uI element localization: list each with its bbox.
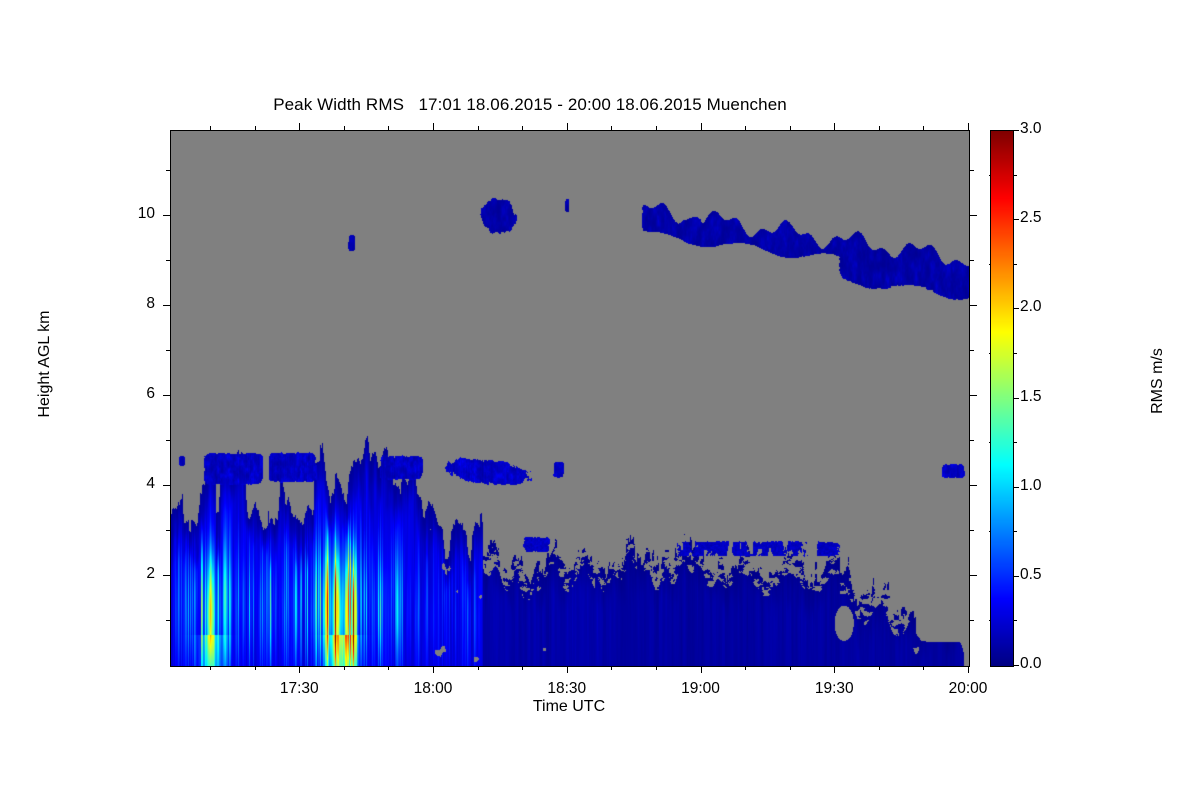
colorbar-minor-tick <box>1014 264 1017 265</box>
page-title: Peak Width RMS 17:01 18.06.2015 - 20:00 … <box>0 95 1060 115</box>
x-axis-minor-tick <box>879 666 880 670</box>
y-axis-tick-label: 10 <box>115 205 155 223</box>
x-axis-minor-tick <box>745 666 746 670</box>
x-axis-minor-tick-top <box>745 126 746 130</box>
colorbar-tick-label: 3.0 <box>1020 120 1068 138</box>
x-axis-minor-tick-top <box>344 126 345 130</box>
y-axis-minor-tick-right <box>970 350 974 351</box>
y-axis-minor-tick <box>166 350 170 351</box>
colorbar-label: RMS m/s <box>1149 281 1167 481</box>
x-axis-minor-tick <box>656 666 657 670</box>
y-axis-minor-tick <box>166 170 170 171</box>
colorbar-minor-tick <box>1014 620 1017 621</box>
x-axis-minor-tick-top <box>923 126 924 130</box>
x-axis-tick <box>299 666 300 673</box>
y-axis-tick <box>163 395 170 396</box>
colorbar <box>990 130 1014 667</box>
y-axis-minor-tick-right <box>970 440 974 441</box>
x-axis-tick-top <box>968 123 969 130</box>
x-axis-tick-top <box>834 123 835 130</box>
colorbar-tick-label: 1.5 <box>1020 388 1068 406</box>
x-axis-minor-tick-top <box>879 126 880 130</box>
x-axis-tick-label: 18:30 <box>522 680 612 698</box>
y-axis-tick-right <box>970 305 977 306</box>
x-axis-tick <box>968 666 969 673</box>
x-axis-minor-tick <box>344 666 345 670</box>
x-axis-label: Time UTC <box>170 698 968 716</box>
x-axis-tick-label: 17:30 <box>254 680 344 698</box>
y-axis-minor-tick <box>166 530 170 531</box>
colorbar-tick-label: 2.0 <box>1020 298 1068 316</box>
x-axis-minor-tick-top <box>388 126 389 130</box>
x-axis-minor-tick-top <box>522 126 523 130</box>
y-axis-tick-right <box>970 215 977 216</box>
colorbar-tick-label: 0.5 <box>1020 566 1068 584</box>
y-axis-tick <box>163 215 170 216</box>
colorbar-tick <box>1014 130 1019 131</box>
colorbar-tick <box>1014 219 1019 220</box>
x-axis-tick-label: 19:00 <box>656 680 746 698</box>
y-axis-tick-label: 2 <box>115 565 155 583</box>
x-axis-tick <box>433 666 434 673</box>
y-axis-minor-tick <box>166 260 170 261</box>
x-axis-minor-tick <box>522 666 523 670</box>
x-axis-minor-tick <box>611 666 612 670</box>
y-axis-tick <box>163 575 170 576</box>
colorbar-tick <box>1014 487 1019 488</box>
y-axis-minor-tick-right <box>970 260 974 261</box>
x-axis-tick-label: 18:00 <box>388 680 478 698</box>
heatmap-plot-area <box>170 130 970 667</box>
y-axis-label: Height AGL km <box>36 264 54 464</box>
colorbar-tick <box>1014 665 1019 666</box>
figure-canvas: Peak Width RMS 17:01 18.06.2015 - 20:00 … <box>0 0 1200 800</box>
colorbar-tick-label: 0.0 <box>1020 655 1068 673</box>
y-axis-minor-tick-right <box>970 620 974 621</box>
y-axis-minor-tick <box>166 620 170 621</box>
x-axis-tick-label: 20:00 <box>923 680 1013 698</box>
y-axis-minor-tick-right <box>970 170 974 171</box>
colorbar-minor-tick <box>1014 442 1017 443</box>
y-axis-tick <box>163 305 170 306</box>
x-axis-minor-tick-top <box>656 126 657 130</box>
x-axis-minor-tick-top <box>210 126 211 130</box>
x-axis-tick-top <box>299 123 300 130</box>
colorbar-tick <box>1014 576 1019 577</box>
colorbar-gradient <box>991 131 1013 666</box>
x-axis-tick <box>567 666 568 673</box>
colorbar-minor-tick <box>1014 353 1017 354</box>
y-axis-tick-right <box>970 575 977 576</box>
x-axis-minor-tick <box>923 666 924 670</box>
y-axis-tick-label: 4 <box>115 475 155 493</box>
x-axis-tick <box>834 666 835 673</box>
x-axis-minor-tick-top <box>611 126 612 130</box>
x-axis-tick-top <box>433 123 434 130</box>
x-axis-tick-top <box>701 123 702 130</box>
y-axis-minor-tick-right <box>970 530 974 531</box>
colorbar-tick <box>1014 308 1019 309</box>
x-axis-tick <box>701 666 702 673</box>
x-axis-tick-top <box>567 123 568 130</box>
colorbar-minor-tick <box>1014 531 1017 532</box>
x-axis-minor-tick <box>790 666 791 670</box>
colorbar-tick-label: 2.5 <box>1020 209 1068 227</box>
y-axis-minor-tick <box>166 440 170 441</box>
y-axis-tick-right <box>970 395 977 396</box>
colorbar-tick <box>1014 398 1019 399</box>
x-axis-minor-tick <box>388 666 389 670</box>
y-axis-tick <box>163 485 170 486</box>
x-axis-minor-tick <box>210 666 211 670</box>
y-axis-tick-label: 8 <box>115 295 155 313</box>
x-axis-tick-label: 19:30 <box>789 680 879 698</box>
x-axis-minor-tick-top <box>790 126 791 130</box>
colorbar-tick-label: 1.0 <box>1020 477 1068 495</box>
colorbar-minor-tick <box>1014 175 1017 176</box>
heatmap-image <box>171 131 969 666</box>
y-axis-tick-label: 6 <box>115 385 155 403</box>
x-axis-minor-tick-top <box>478 126 479 130</box>
y-axis-tick-right <box>970 485 977 486</box>
x-axis-minor-tick <box>255 666 256 670</box>
x-axis-minor-tick-top <box>255 126 256 130</box>
x-axis-minor-tick <box>478 666 479 670</box>
